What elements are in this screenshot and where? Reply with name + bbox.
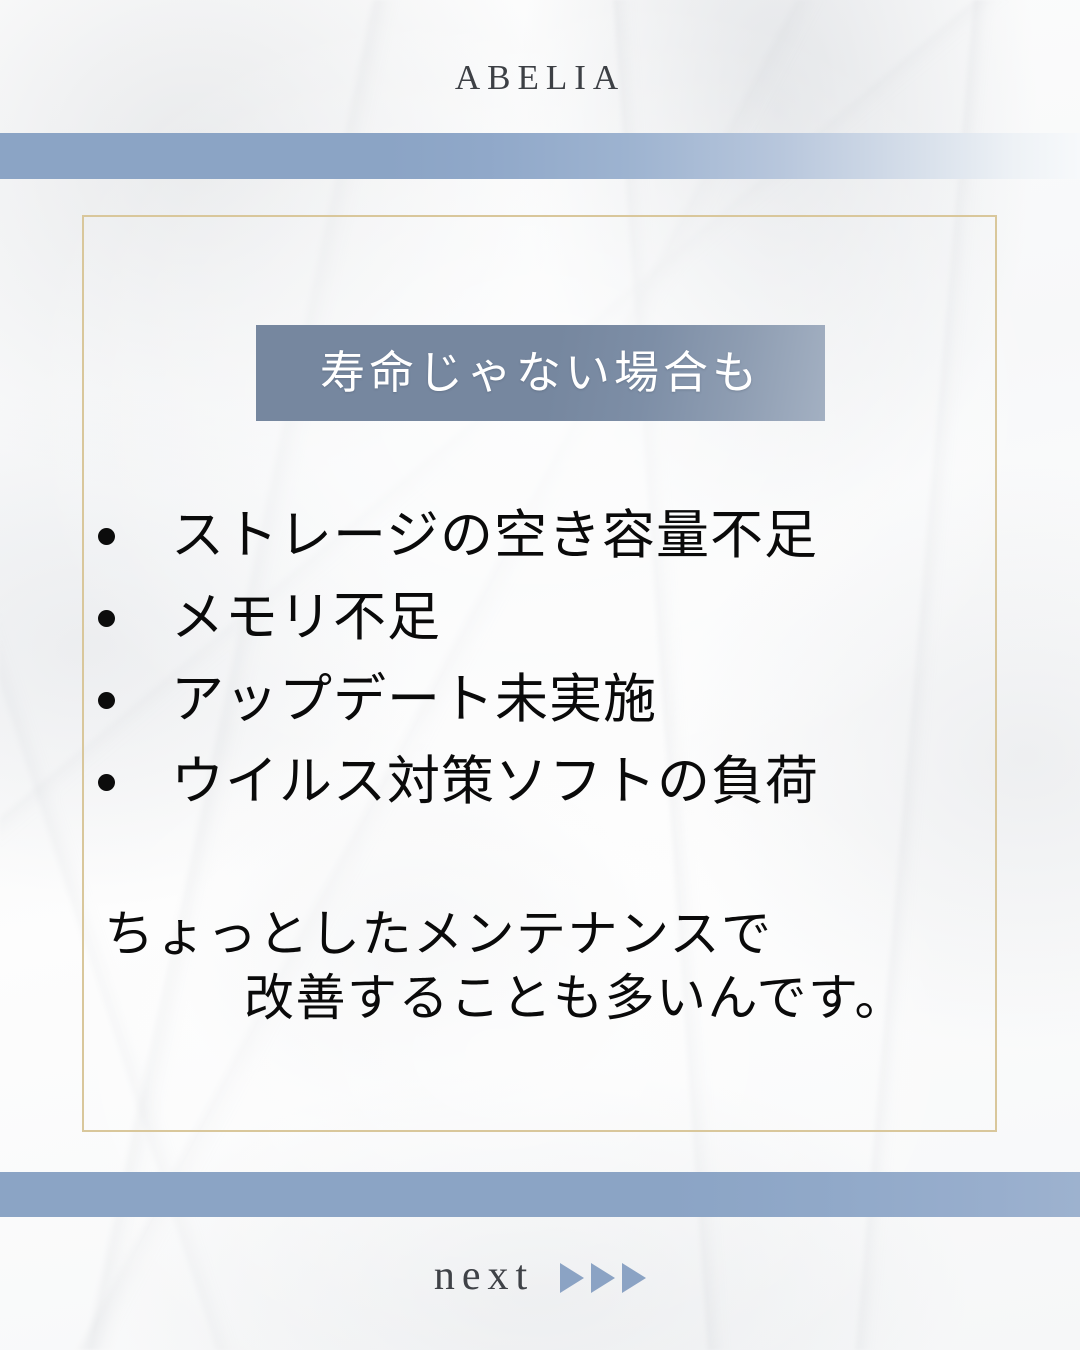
list-item: アップデート未実施: [98, 659, 978, 741]
closing-line-2: 改善することも多いんです。: [104, 966, 984, 1030]
list-item-label: ストレージの空き容量不足: [171, 510, 818, 563]
list-item: ストレージの空き容量不足: [98, 495, 978, 577]
slide-card: ABELIA 寿命じゃない場合も ストレージの空き容量不足 メモリ不足 アップデ…: [0, 0, 1080, 1350]
section-title-banner: 寿命じゃない場合も: [256, 325, 825, 421]
list-item: メモリ不足: [98, 577, 978, 659]
closing-paragraph: ちょっとしたメンテナンスで 改善することも多いんです。: [104, 902, 984, 1030]
list-item-label: ウイルス対策ソフトの負荷: [171, 756, 819, 809]
header-accent-bar: [0, 133, 1080, 179]
bullet-dot-icon: [98, 774, 115, 791]
list-item: ウイルス対策ソフトの負荷: [98, 741, 978, 823]
bullet-dot-icon: [98, 528, 115, 545]
next-label: next: [434, 1255, 534, 1297]
next-arrows[interactable]: [560, 1263, 646, 1293]
brand-title: ABELIA: [0, 58, 1080, 98]
next-footer[interactable]: next: [0, 1255, 1080, 1297]
bullet-dot-icon: [98, 692, 115, 709]
triangle-right-icon: [622, 1263, 646, 1293]
bullet-dot-icon: [98, 610, 115, 627]
triangle-right-icon: [591, 1263, 615, 1293]
list-item-label: アップデート未実施: [171, 674, 657, 727]
footer-accent-bar: [0, 1172, 1080, 1217]
list-item-label: メモリ不足: [171, 592, 441, 645]
triangle-right-icon: [560, 1263, 584, 1293]
section-title-text: 寿命じゃない場合も: [320, 351, 761, 396]
cause-list: ストレージの空き容量不足 メモリ不足 アップデート未実施 ウイルス対策ソフトの負…: [98, 495, 978, 823]
closing-line-1: ちょっとしたメンテナンスで: [104, 902, 984, 966]
